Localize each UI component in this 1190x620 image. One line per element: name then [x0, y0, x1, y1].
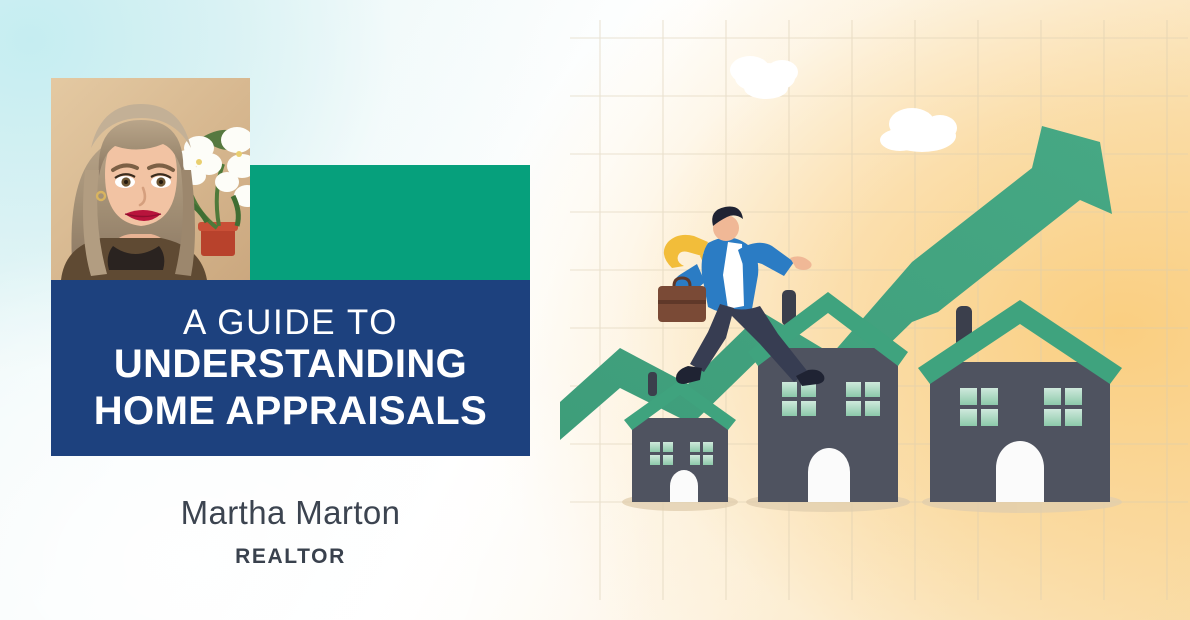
headline-line-2: UNDERSTANDING	[114, 341, 467, 388]
cloud-icon-left	[730, 56, 798, 99]
headline-line-3: HOME APPRAISALS	[94, 388, 487, 435]
poster-canvas: A GUIDE TO UNDERSTANDING HOME APPRAISALS…	[0, 0, 1190, 620]
illustration-panel	[560, 0, 1190, 620]
headline-line-1: A GUIDE TO	[183, 305, 398, 341]
cloud-icon-right	[880, 108, 957, 152]
portrait-photo	[51, 78, 250, 280]
headline-group: A GUIDE TO UNDERSTANDING HOME APPRAISALS	[51, 280, 530, 456]
agent-role: REALTOR	[51, 545, 530, 569]
large-house	[918, 300, 1122, 502]
green-accent-block	[250, 165, 530, 280]
agent-name: Martha Marton	[51, 494, 530, 532]
avatar	[51, 78, 250, 280]
rising-home-value-illustration	[560, 0, 1190, 620]
